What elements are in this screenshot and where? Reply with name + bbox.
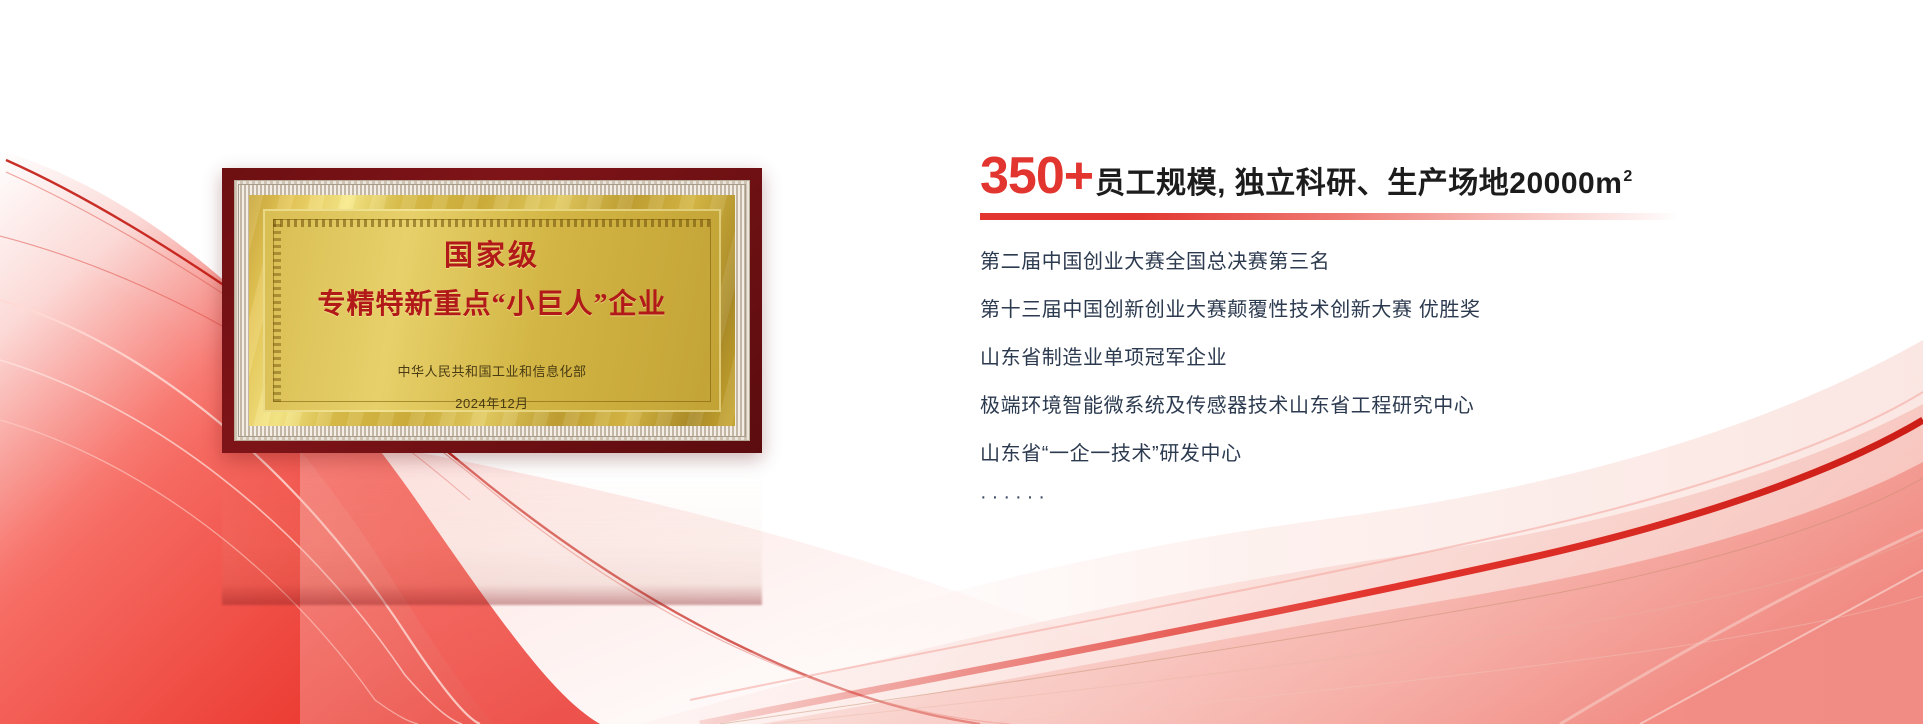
headline-text: 员工规模, 独立科研、生产场地20000m xyxy=(1095,169,1622,199)
headline-number: 350+ xyxy=(980,150,1093,202)
plaque-bevel-outer: 国家级 专精特新重点“小巨人”企业 中华人民共和国工业和信息化部 2024年12… xyxy=(234,180,750,441)
honors-banner: 国家级 专精特新重点“小巨人”企业 中华人民共和国工业和信息化部 2024年12… xyxy=(0,0,1923,724)
plaque-text-block: 国家级 专精特新重点“小巨人”企业 中华人民共和国工业和信息化部 2024年12… xyxy=(249,195,735,426)
plaque-title-line2: 专精特新重点“小巨人”企业 xyxy=(317,290,666,321)
plaque-gold-face: 国家级 专精特新重点“小巨人”企业 中华人民共和国工业和信息化部 2024年12… xyxy=(249,195,735,426)
plaque-issuer: 中华人民共和国工业和信息化部 xyxy=(397,361,586,380)
plaque-frame: 国家级 专精特新重点“小巨人”企业 中华人民共和国工业和信息化部 2024年12… xyxy=(222,168,762,453)
plaque-date: 2024年12月 xyxy=(455,393,528,412)
headline-superscript: 2 xyxy=(1623,169,1632,185)
honors-ellipsis: ······ xyxy=(980,486,1880,509)
content-column: 350+ 员工规模, 独立科研、生产场地20000m 2 第二届中国创业大赛全国… xyxy=(980,150,1880,509)
headline-underline xyxy=(980,213,1680,220)
list-item: 第二届中国创业大赛全国总决赛第三名 xyxy=(980,252,1880,272)
list-item: 极端环境智能微系统及传感器技术山东省工程研究中心 xyxy=(980,396,1880,416)
list-item: 第十三届中国创新创业大赛颠覆性技术创新大赛 优胜奖 xyxy=(980,300,1880,320)
plaque-reflection xyxy=(222,455,762,605)
list-item: 山东省制造业单项冠军企业 xyxy=(980,348,1880,368)
award-plaque: 国家级 专精特新重点“小巨人”企业 中华人民共和国工业和信息化部 2024年12… xyxy=(222,168,762,453)
plaque-title-line1: 国家级 xyxy=(444,241,540,273)
plaque-bevel-inner: 国家级 专精特新重点“小巨人”企业 中华人民共和国工业和信息化部 2024年12… xyxy=(238,184,746,437)
honors-list: 第二届中国创业大赛全国总决赛第三名 第十三届中国创新创业大赛颠覆性技术创新大赛 … xyxy=(980,252,1880,509)
headline: 350+ 员工规模, 独立科研、生产场地20000m 2 xyxy=(980,150,1880,202)
list-item: 山东省“一企一技术”研发中心 xyxy=(980,444,1880,464)
